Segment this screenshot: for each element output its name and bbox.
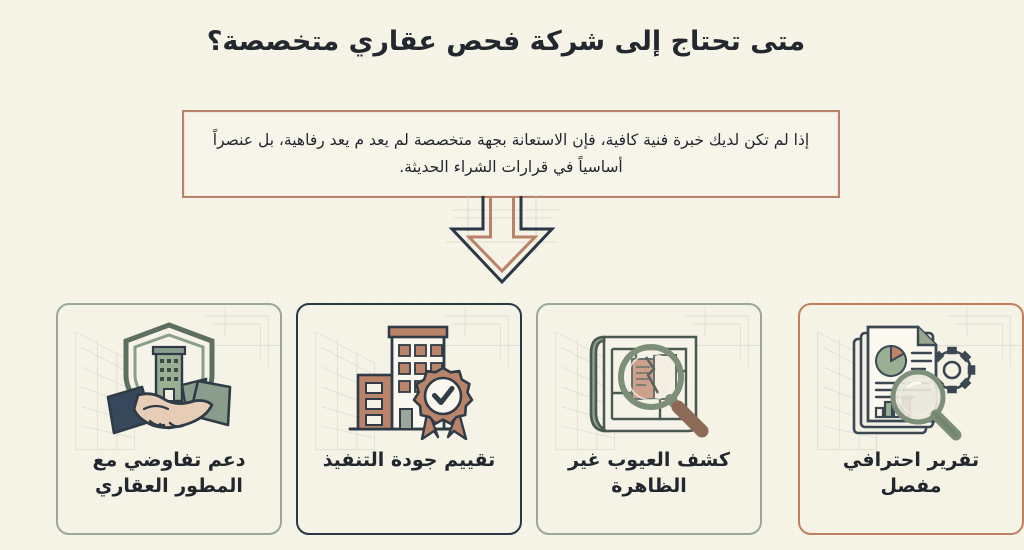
- card-label: كشف العيوب غير الظاهرة: [538, 447, 760, 499]
- card-icon-container: [334, 313, 484, 443]
- card-icon-container: [94, 313, 244, 443]
- infographic-canvas: متى تحتاج إلى شركة فحص عقاري متخصصة؟ إذا…: [0, 0, 1024, 550]
- card-label: تقييم جودة التنفيذ: [309, 447, 510, 473]
- feature-card-negotiation-support[interactable]: دعم تفاوضي مع المطور العقاري: [56, 303, 282, 535]
- buildings-quality-badge-icon: [334, 313, 484, 443]
- page-title: متى تحتاج إلى شركة فحص عقاري متخصصة؟: [0, 24, 1024, 59]
- feature-card-report[interactable]: تقرير احترافي مفصل: [798, 303, 1024, 535]
- arrow-down-icon: [432, 196, 572, 286]
- callout-text: إذا لم تكن لديك خبرة فنية كافية، فإن الا…: [184, 127, 838, 181]
- feature-card-row: تقرير احترافي مفصل: [0, 303, 1024, 537]
- document-report-magnifier-gear-icon: [836, 313, 986, 443]
- down-arrow-connector: [432, 196, 572, 286]
- handshake-shield-building-icon: [94, 313, 244, 443]
- feature-card-hidden-defects[interactable]: كشف العيوب غير الظاهرة: [536, 303, 762, 535]
- card-label: دعم تفاوضي مع المطور العقاري: [58, 447, 280, 499]
- card-label: تقرير احترافي مفصل: [800, 447, 1022, 499]
- card-icon-container: [836, 313, 986, 443]
- feature-card-quality-assessment[interactable]: تقييم جودة التنفيذ: [296, 303, 522, 535]
- callout-box: إذا لم تكن لديك خبرة فنية كافية، فإن الا…: [182, 110, 840, 198]
- blueprint-magnifier-crack-icon: [574, 313, 724, 443]
- card-icon-container: [574, 313, 724, 443]
